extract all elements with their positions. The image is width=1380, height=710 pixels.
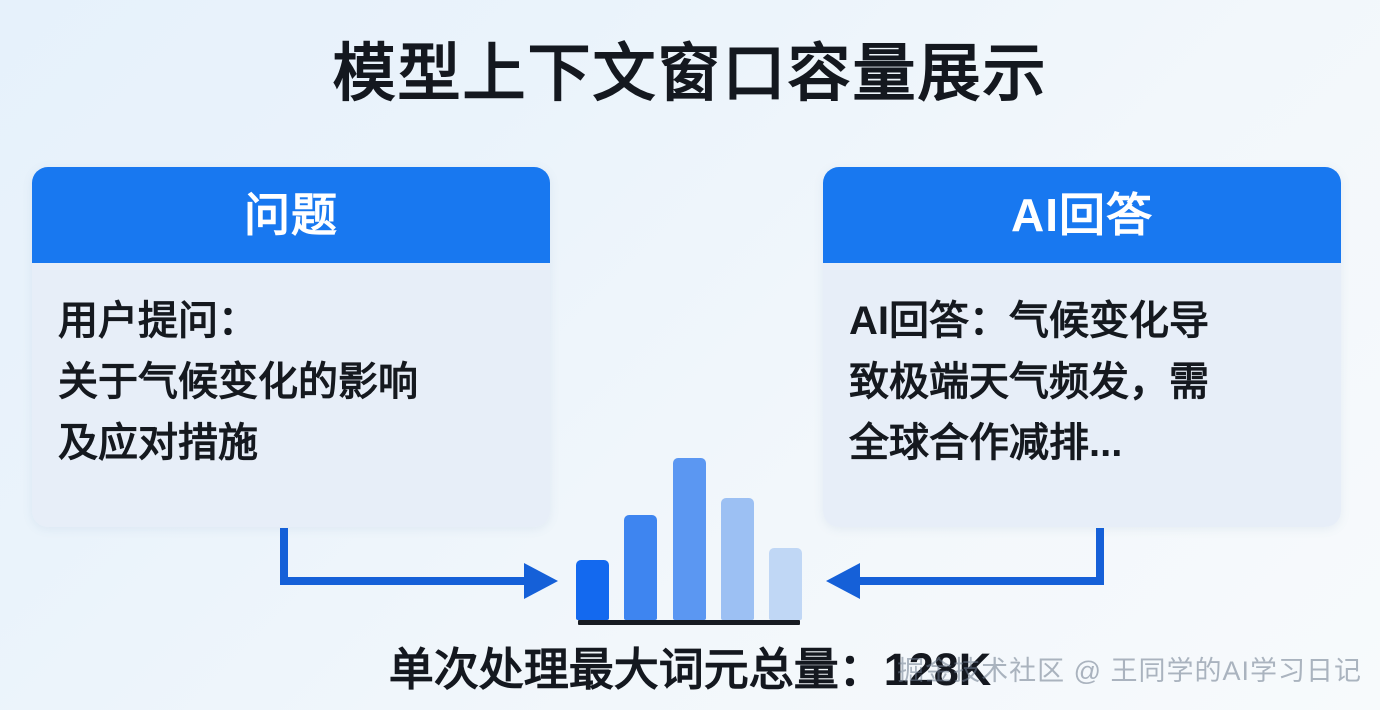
question-card-header: 问题	[32, 167, 550, 263]
answer-card-body: AI回答：气候变化导 致极端天气频发，需 全球合作减排...	[823, 263, 1341, 527]
question-text-line-1: 用户提问：	[58, 291, 524, 352]
answer-card: AI回答 AI回答：气候变化导 致极端天气频发，需 全球合作减排...	[823, 167, 1341, 527]
watermark: 掘金技术社区 @ 王同学的AI学习日记	[897, 655, 1362, 687]
bar-5	[769, 548, 802, 620]
page-title: 模型上下文窗口容量展示	[0, 36, 1380, 112]
question-card: 问题 用户提问： 关于气候变化的影响 及应对措施	[32, 167, 550, 527]
answer-text-line-3: 全球合作减排...	[849, 413, 1315, 474]
bar-4	[721, 498, 754, 620]
question-text-line-3: 及应对措施	[58, 413, 524, 474]
question-card-body: 用户提问： 关于气候变化的影响 及应对措施	[32, 263, 550, 527]
question-to-chart-arrow-icon	[276, 528, 566, 608]
bar-chart-bars	[576, 450, 802, 620]
token-capacity-bar-chart	[576, 450, 802, 625]
answer-card-header-label: AI回答	[1011, 190, 1153, 240]
bar-chart-baseline	[578, 620, 800, 625]
answer-card-header: AI回答	[823, 167, 1341, 263]
caption-label: 单次处理最大词元总量：	[389, 644, 884, 695]
slide-canvas: 模型上下文窗口容量展示 问题 用户提问： 关于气候变化的影响 及应对措施 AI回…	[0, 0, 1380, 710]
bar-1	[576, 560, 609, 620]
bar-2	[624, 515, 657, 620]
bar-3	[673, 458, 706, 620]
answer-to-chart-arrow-icon	[818, 528, 1108, 608]
question-text-line-2: 关于气候变化的影响	[58, 352, 524, 413]
answer-text-line-2: 致极端天气频发，需	[849, 352, 1315, 413]
answer-text-line-1: AI回答：气候变化导	[849, 291, 1315, 352]
question-card-header-label: 问题	[244, 190, 338, 240]
